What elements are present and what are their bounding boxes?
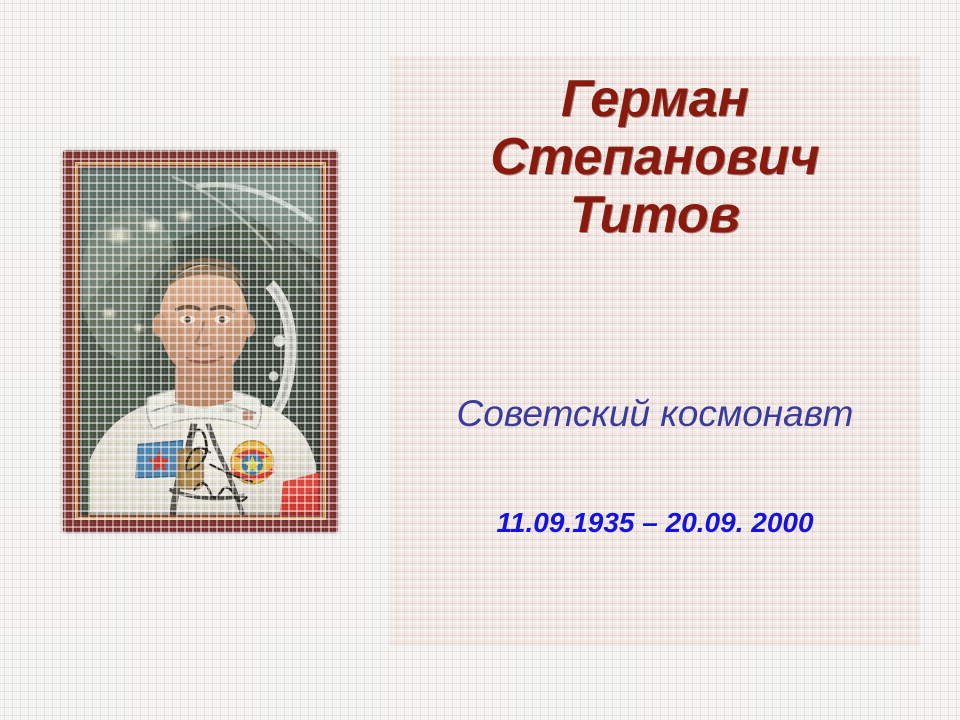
title-line-2: Степанович	[390, 128, 920, 186]
subtitle: Советский космонавт	[390, 394, 920, 435]
portrait-photo-artwork	[80, 167, 321, 515]
photo-fillet	[76, 163, 325, 519]
photo-frame	[63, 150, 338, 532]
title-line-1: Герман	[390, 70, 920, 128]
page-title: Герман Степанович Титов	[390, 70, 920, 245]
text-content-block: Герман Степанович Титов Советский космон…	[390, 56, 920, 646]
title-line-3: Титов	[390, 186, 920, 244]
presentation-slide: Герман Степанович Титов Советский космон…	[0, 0, 960, 720]
portrait-photo	[80, 167, 321, 515]
life-dates: 11.09.1935 – 20.09. 2000	[390, 508, 920, 539]
